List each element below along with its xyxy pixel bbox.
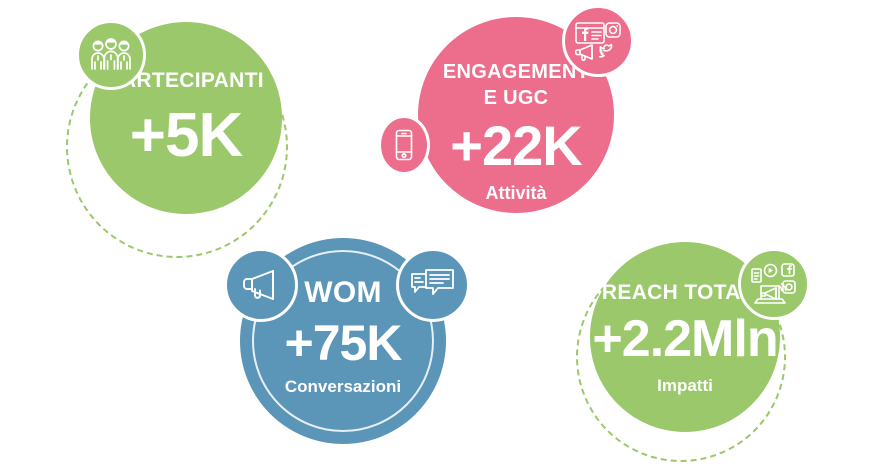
stat-card-engagement: ENGAGEMENT E UGC +22K Attività <box>370 0 660 250</box>
chat-bubbles-icon <box>396 248 470 322</box>
three-people-icon <box>76 20 146 90</box>
megaphone-icon <box>224 248 298 322</box>
engagement-value: +22K <box>418 118 614 174</box>
reach-unit: Impatti <box>582 377 788 394</box>
engagement-labels: ENGAGEMENT E UGC +22K Attività <box>418 62 614 202</box>
stat-card-wom: WOM +75K Conversazioni <box>220 230 500 476</box>
laptop-broadcast-icon <box>738 248 810 320</box>
engagement-title-line2: E UGC <box>418 88 614 108</box>
wom-value: +75K <box>240 318 446 368</box>
participants-value: +5K <box>90 105 282 167</box>
reach-value: +2.2Mln <box>582 313 788 365</box>
engagement-unit: Attività <box>418 184 614 202</box>
social-media-megaphone-icon <box>562 5 634 77</box>
wom-unit: Conversazioni <box>240 378 446 395</box>
infographic-canvas: PARTECIPANTI +5K <box>0 0 871 476</box>
smartphone-icon <box>378 115 430 175</box>
stat-card-reach: REACH TOTALE +2.2Mln Impatti <box>560 240 860 476</box>
